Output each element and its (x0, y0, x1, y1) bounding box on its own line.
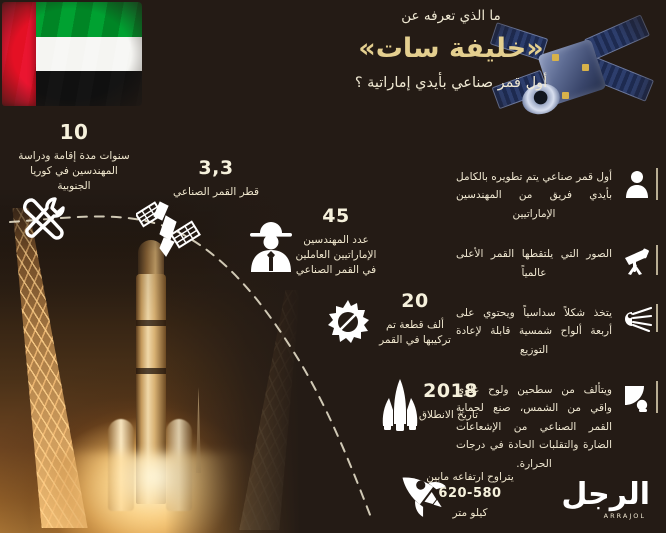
satellite-icon (136, 196, 206, 264)
stat-caption-after: كيلو متر (424, 506, 516, 521)
feature-hexagonal-shape-panels: يتخذ شكلاً سداسياً ويحتوي على أربعة ألوا… (452, 304, 658, 359)
stat-emirati-engineers: 45 عدد المهندسين الإماراتيين العاملين في… (288, 203, 384, 278)
solar-rays-icon (618, 304, 658, 332)
feature-text: يتخذ شكلاً سداسياً ويحتوي على أربعة ألوا… (452, 304, 618, 359)
feature-first-emirati-built: أول قمر صناعي يتم تطويره بالكامل بأيدي ف… (452, 168, 658, 223)
stat-caption: قطر القمر الصناعي (170, 185, 262, 200)
stat-number: 20 (372, 288, 458, 316)
stat-parts-installed: 20 ألف قطعة تم تركيبها في القمر (372, 288, 458, 348)
header-subtitle: أول قمر صناعي بأيدي إماراتية ؟ (236, 75, 666, 91)
header-supertitle: ما الذي تعرفه عن (236, 8, 666, 24)
page-title: «خليفة سات» (236, 33, 666, 64)
stat-years-korea: 10 سنوات مدة إقامة ودراسة المهندسين في ك… (18, 118, 130, 195)
flag-vignette (0, 0, 148, 112)
stat-satellite-diameter: 3,3 قطر القمر الصناعي (170, 155, 262, 200)
feature-two-surfaces-protection: ويتألف من سطحين ولوح علوي واقي من الشمس،… (452, 381, 658, 473)
logo-latin-name: ARRAJOL (604, 512, 646, 520)
satellite-dish-icon (618, 381, 658, 413)
stat-caption: ألف قطعة تم تركيبها في القمر (372, 318, 458, 348)
feature-text: الصور التي يلتقطها القمر الأعلى عالمياً (452, 245, 618, 282)
arrajol-logo[interactable]: الرجل ARRAJOL (534, 475, 652, 521)
feature-text: أول قمر صناعي يتم تطويره بالكامل بأيدي ف… (452, 168, 618, 223)
logo-wordmark: الرجل (561, 477, 650, 512)
gear-icon (324, 298, 372, 350)
stat-number: 10 (18, 118, 130, 147)
feature-text: ويتألف من سطحين ولوح علوي واقي من الشمس،… (452, 381, 618, 473)
stat-number: 45 (288, 203, 384, 231)
stat-caption: سنوات مدة إقامة ودراسة المهندسين في كوري… (18, 149, 130, 195)
feature-highest-resolution-images: الصور التي يلتقطها القمر الأعلى عالمياً (452, 245, 658, 282)
tools-icon (14, 190, 70, 250)
stat-caption: عدد المهندسين الإماراتيين العاملين في ال… (288, 233, 384, 279)
infographic-root: ما الذي تعرفه عن «خليفة سات» أول قمر صنا… (0, 0, 666, 533)
stat-number: 3,3 (170, 155, 262, 183)
person-icon (618, 168, 658, 200)
uae-flag (2, 2, 142, 106)
features-list: أول قمر صناعي يتم تطويره بالكامل بأيدي ف… (452, 168, 658, 495)
header: ما الذي تعرفه عن «خليفة سات» أول قمر صنا… (236, 8, 666, 91)
telescope-icon (618, 245, 658, 275)
